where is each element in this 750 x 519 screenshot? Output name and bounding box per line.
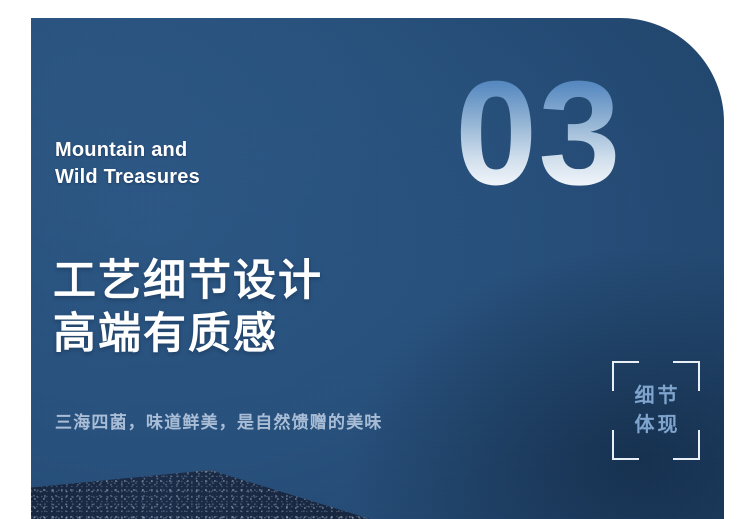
detail-badge-text: 细节 体现 <box>612 382 700 440</box>
english-eyebrow-line-2: Wild Treasures <box>55 164 200 191</box>
subtitle-text: 三海四菌，味道鲜美，是自然馈赠的美味 <box>55 408 383 433</box>
detail-badge: 细节 体现 <box>612 361 700 460</box>
section-number: 03 <box>455 60 622 208</box>
page-title: 工艺细节设计 高端有质感 <box>53 255 323 361</box>
promo-banner: 03 Mountain and Wild Treasures 工艺细节设计 高端… <box>0 0 750 519</box>
headline-line-2: 高端有质感 <box>53 308 323 361</box>
product-texture-corner <box>31 470 431 519</box>
english-eyebrow-line-1: Mountain and <box>55 137 200 164</box>
detail-badge-line-1: 细节 <box>612 382 700 411</box>
headline-line-1: 工艺细节设计 <box>53 255 323 308</box>
detail-badge-line-2: 体现 <box>612 411 700 440</box>
english-eyebrow: Mountain and Wild Treasures <box>55 137 200 190</box>
